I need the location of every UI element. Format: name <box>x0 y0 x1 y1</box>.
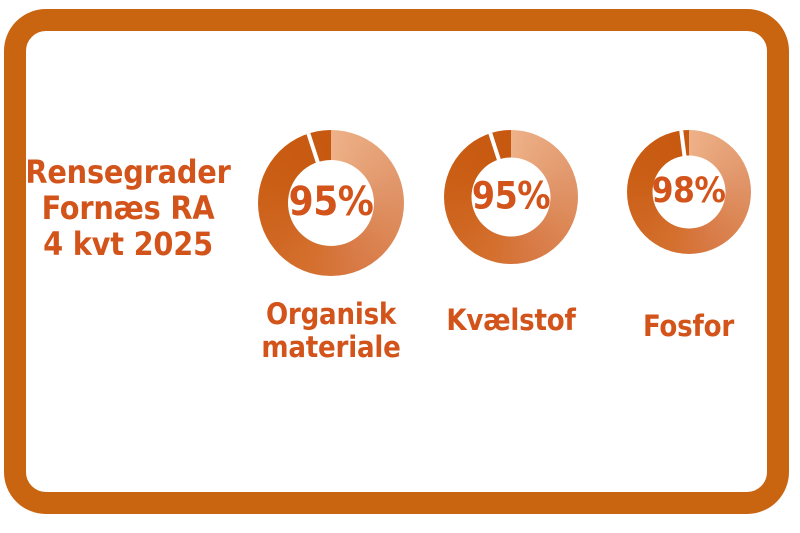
donut-card-organisk-materiale: 95% Organisk materiale <box>236 130 426 364</box>
page-title: Rensegrader Fornæs RA 4 kvt 2025 <box>18 155 238 262</box>
donut-wrapper: 95% <box>421 130 601 282</box>
title-line-1: Rensegrader <box>18 155 238 191</box>
donut-category-label-line-1: Kvælstof <box>421 304 601 337</box>
title-line-2: Fornæs RA <box>18 191 238 227</box>
donut-wrapper: 95% <box>236 130 426 282</box>
donut-wrapper: 98% <box>596 130 781 282</box>
donut-value-label: 95% <box>472 175 550 218</box>
donut-chart-row: 95% Organisk materiale 95% Kvælstof <box>236 130 784 400</box>
donut-category-label-line-1: Organisk <box>236 298 426 331</box>
donut-chart-kvaelstof: 95% <box>444 130 578 264</box>
donut-card-kvaelstof: 95% Kvælstof <box>421 130 601 337</box>
donut-value-label: 95% <box>289 179 374 225</box>
donut-category-label: Fosfor <box>596 310 781 343</box>
infographic-canvas: Rensegrader Fornæs RA 4 kvt 2025 95% Org… <box>0 0 800 533</box>
title-line-3: 4 kvt 2025 <box>18 227 238 263</box>
donut-category-label: Kvælstof <box>421 304 601 337</box>
donut-chart-fosfor: 98% <box>627 130 751 254</box>
donut-category-label-line-2: materiale <box>236 331 426 364</box>
donut-category-label-line-1: Fosfor <box>596 310 781 343</box>
donut-category-label: Organisk materiale <box>236 298 426 364</box>
donut-value-label: 98% <box>652 171 726 211</box>
donut-card-fosfor: 98% Fosfor <box>596 130 781 343</box>
donut-chart-organisk-materiale: 95% <box>258 130 404 276</box>
